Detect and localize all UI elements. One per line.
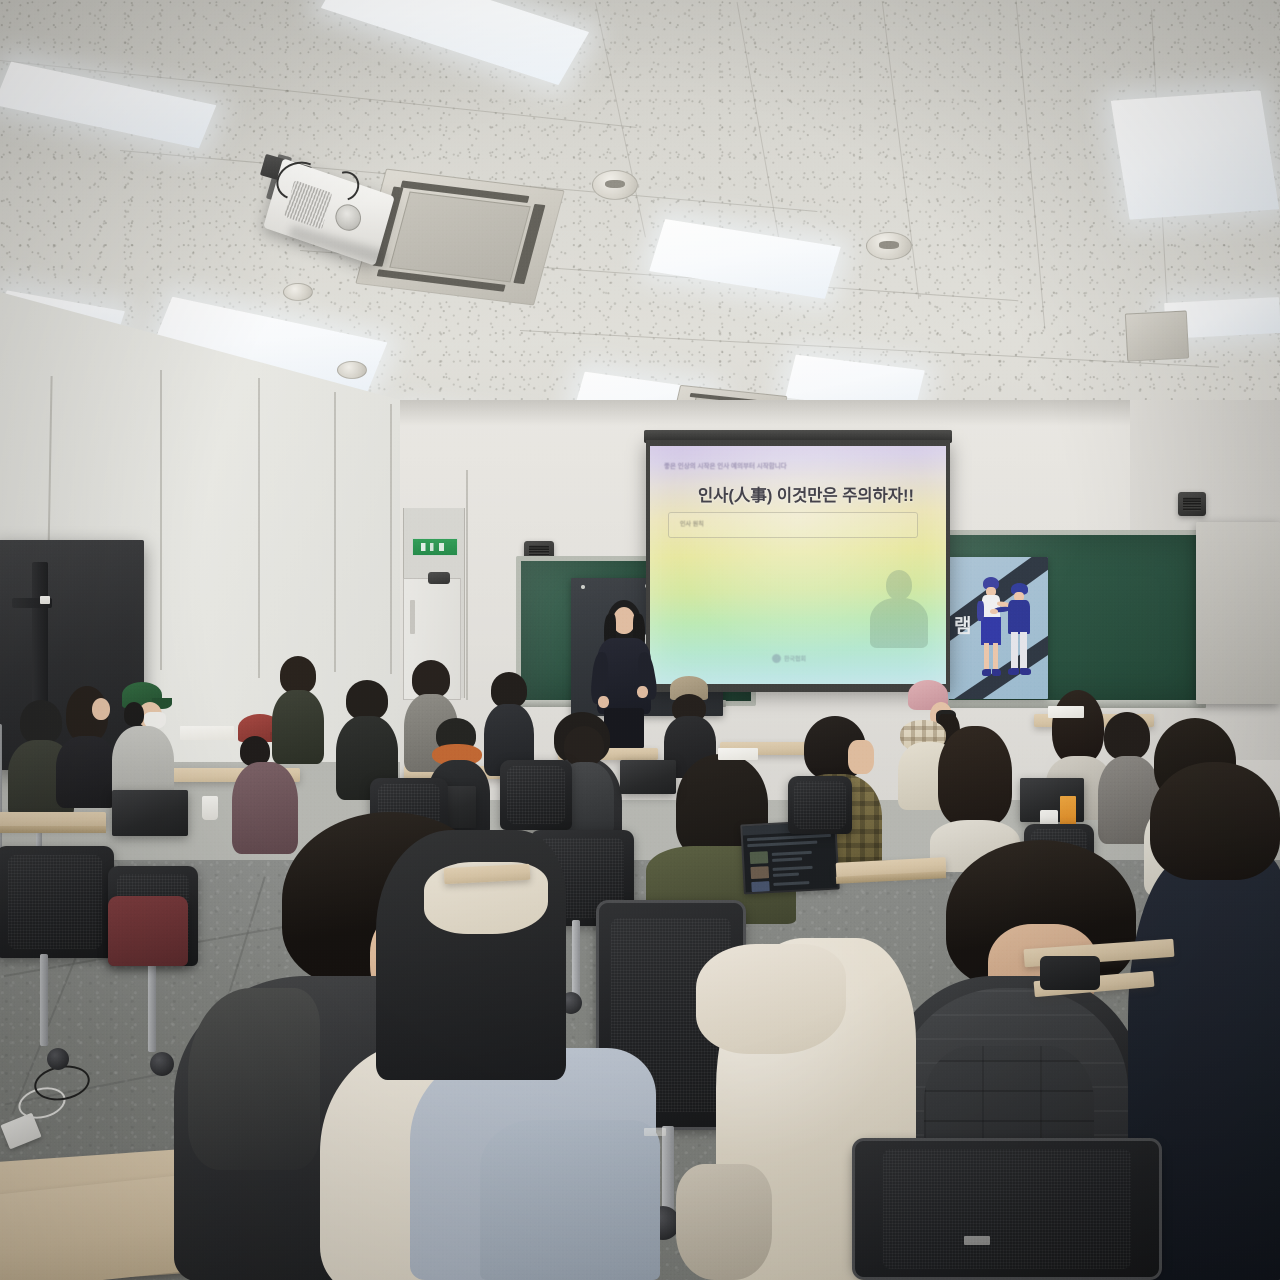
ceiling-light-panel (1111, 90, 1279, 219)
ceiling-speaker (866, 232, 912, 260)
juice-box (1060, 796, 1076, 826)
paper-sheet (718, 748, 758, 760)
slide-box-label: 인사 원칙 (680, 519, 704, 528)
slide-eyebrow-text: 좋은 인상의 시작은 인사 예의부터 시작합니다 (664, 460, 787, 470)
wall-panel-seam (160, 370, 162, 670)
paper-sheet (1048, 706, 1084, 718)
smoke-detector (283, 283, 313, 301)
chair-label (964, 1236, 990, 1245)
chair-post (40, 954, 48, 1046)
chair[interactable] (0, 846, 114, 958)
ceiling-ac-vent (1125, 310, 1189, 361)
presenter-head (613, 607, 635, 634)
greeting-poster: 램 (948, 557, 1048, 699)
wall-panel-seam (334, 392, 336, 672)
poster-text: 램 (954, 611, 971, 638)
slide-logo-text: 한국협회 (784, 654, 806, 663)
door-handle[interactable] (410, 600, 415, 634)
chair-label (644, 1128, 666, 1136)
chair-post (148, 962, 156, 1052)
wall-panel-seam (466, 470, 468, 700)
tv-mount-bracket (32, 562, 48, 722)
bag (1040, 956, 1100, 990)
slide-content-box (668, 512, 918, 538)
presentation-slide: 좋은 인상의 시작은 인사 예의부터 시작합니다 인사(人事) 이것만은 주의하… (650, 446, 946, 684)
desk-edge (0, 826, 106, 833)
poster-figure-man (1003, 583, 1037, 691)
paper-stack (180, 726, 234, 740)
wall-panel-seam (390, 404, 392, 674)
chair-caster (47, 1048, 69, 1070)
tv-label (40, 596, 50, 604)
slide-logo: 한국협회 (772, 654, 806, 663)
student-right-front-head (1150, 762, 1280, 912)
emergency-exit-sign (412, 538, 458, 556)
chair[interactable] (788, 776, 852, 834)
slide-logo-mark (772, 654, 781, 663)
presenter-hand-left (598, 696, 609, 708)
student-leg-foreground (676, 1164, 772, 1280)
student-long-hair-left (56, 686, 118, 806)
student-jeans-foreground (480, 1120, 660, 1280)
slide-title: 인사(人事) 이것만은 주의하자!! (698, 482, 914, 506)
smoke-detector (337, 361, 367, 379)
chair-frame (852, 1138, 1162, 1280)
wall-panel-seam (258, 378, 260, 678)
presenter-hand-right (637, 686, 648, 698)
chair-caster (150, 1052, 174, 1076)
draped-cloth (696, 944, 846, 1054)
slide-person-silhouette (868, 570, 930, 648)
photo-scene: 24 IP 램 (0, 0, 1280, 1280)
wall-speaker (1178, 492, 1206, 516)
vest-shoulder-left (188, 988, 320, 1170)
smoke-detector (592, 170, 638, 200)
monitor (620, 760, 676, 794)
student-mid-left-a (272, 656, 324, 764)
wall-cabinet (1196, 522, 1280, 704)
ceiling-ac-vent (355, 168, 564, 305)
door-closer (428, 572, 450, 584)
